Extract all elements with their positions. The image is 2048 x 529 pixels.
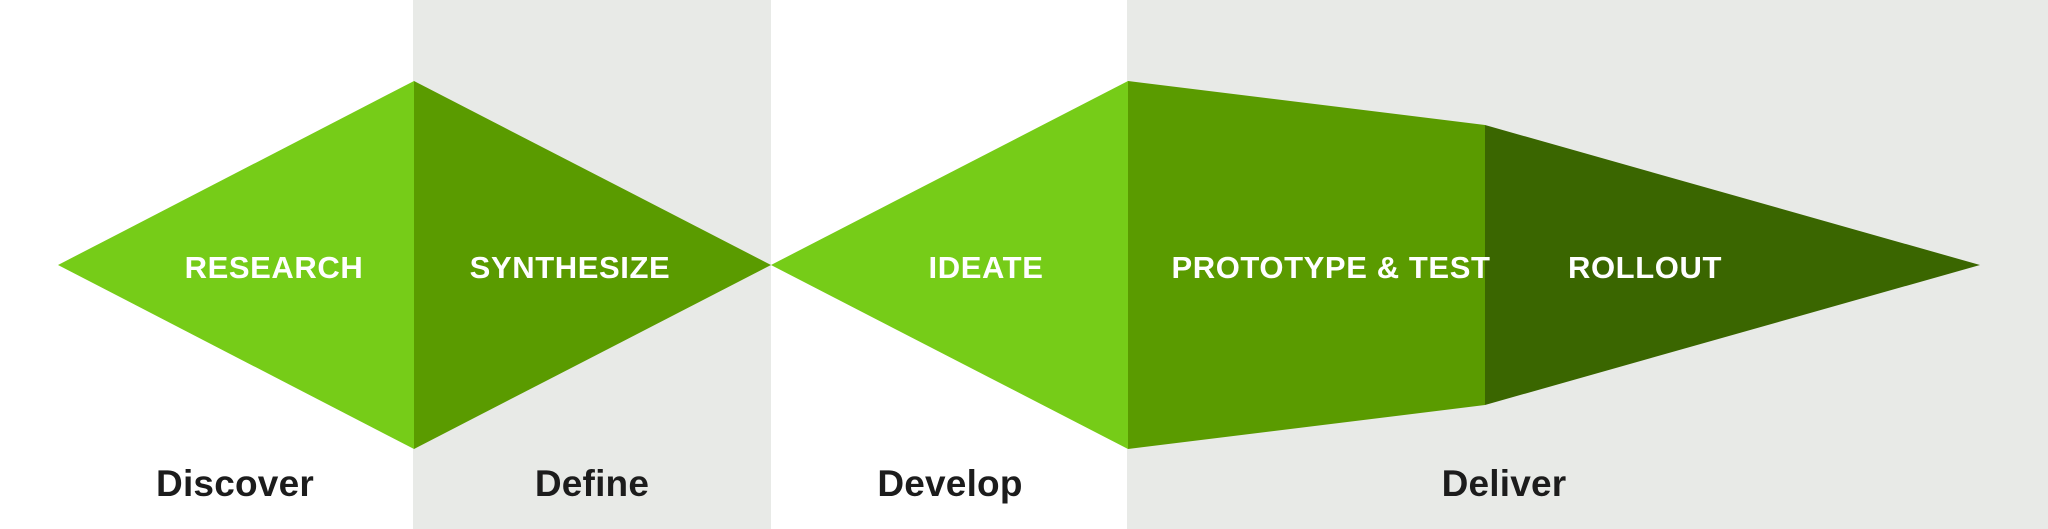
stage-label-synthesize: SYNTHESIZE — [470, 250, 671, 285]
double-diamond-diagram: RESEARCH SYNTHESIZE IDEATE PROTOTYPE & T… — [0, 0, 2048, 529]
stage-label-rollout: ROLLOUT — [1568, 250, 1722, 285]
stage-label-research: RESEARCH — [185, 250, 364, 285]
phase-label-develop: Develop — [877, 463, 1022, 504]
phase-label-discover: Discover — [156, 463, 314, 504]
stage-label-ideate: IDEATE — [929, 250, 1044, 285]
stage-label-prototype-test: PROTOTYPE & TEST — [1171, 250, 1490, 285]
diagram-canvas: RESEARCH SYNTHESIZE IDEATE PROTOTYPE & T… — [0, 0, 2048, 529]
phase-label-deliver: Deliver — [1442, 463, 1567, 504]
phase-label-define: Define — [535, 463, 649, 504]
